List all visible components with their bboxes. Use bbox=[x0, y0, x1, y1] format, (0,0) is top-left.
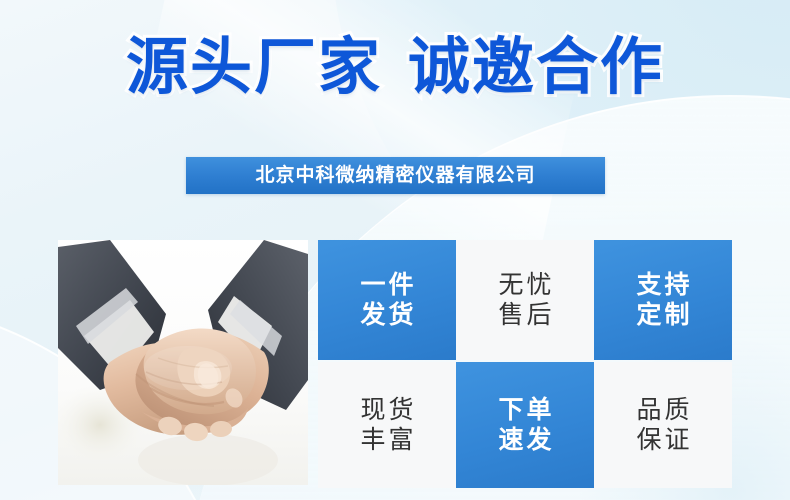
feature-cell-6-line1: 品质 bbox=[633, 395, 692, 426]
feature-cell-1-line1: 一件 bbox=[357, 270, 416, 301]
feature-cell-3-line1: 支持 bbox=[633, 270, 692, 301]
handshake-illustration bbox=[58, 240, 308, 485]
feature-cell-3-line2: 定制 bbox=[633, 300, 692, 331]
headline-part-2: 诚邀合作 bbox=[408, 30, 664, 103]
feature-cell-3[interactable]: 支持 定制 bbox=[594, 240, 732, 360]
company-name: 北京中科微纳精密仪器有限公司 bbox=[255, 166, 535, 185]
feature-cell-2-line2: 售后 bbox=[495, 300, 554, 331]
company-name-bar: 北京中科微纳精密仪器有限公司 bbox=[186, 157, 605, 194]
feature-cell-5-line2: 速发 bbox=[495, 425, 554, 456]
handshake-photo bbox=[58, 240, 308, 485]
feature-cell-5[interactable]: 下单 速发 bbox=[456, 362, 594, 488]
feature-cell-1[interactable]: 一件 发货 bbox=[318, 240, 456, 360]
feature-cell-5-line1: 下单 bbox=[495, 395, 554, 426]
feature-cell-1-line2: 发货 bbox=[357, 300, 416, 331]
feature-cell-6-line2: 保证 bbox=[633, 425, 692, 456]
feature-cell-4-line1: 现货 bbox=[357, 395, 416, 426]
headline-container: 源头厂家诚邀合作 bbox=[0, 36, 790, 98]
feature-cell-2[interactable]: 无忧 售后 bbox=[456, 240, 594, 360]
feature-grid: 一件 发货 无忧 售后 支持 定制 现货 丰富 下单 速发 品质 保证 bbox=[318, 240, 732, 488]
feature-cell-2-line1: 无忧 bbox=[495, 270, 554, 301]
feature-cell-6[interactable]: 品质 保证 bbox=[594, 362, 732, 488]
feature-cell-4[interactable]: 现货 丰富 bbox=[318, 362, 456, 488]
headline-part-1: 源头厂家 bbox=[126, 30, 382, 103]
feature-cell-4-line2: 丰富 bbox=[357, 425, 416, 456]
promotional-banner: 源头厂家诚邀合作 北京中科微纳精密仪器有限公司 bbox=[0, 0, 790, 500]
headline: 源头厂家诚邀合作 bbox=[126, 36, 664, 98]
